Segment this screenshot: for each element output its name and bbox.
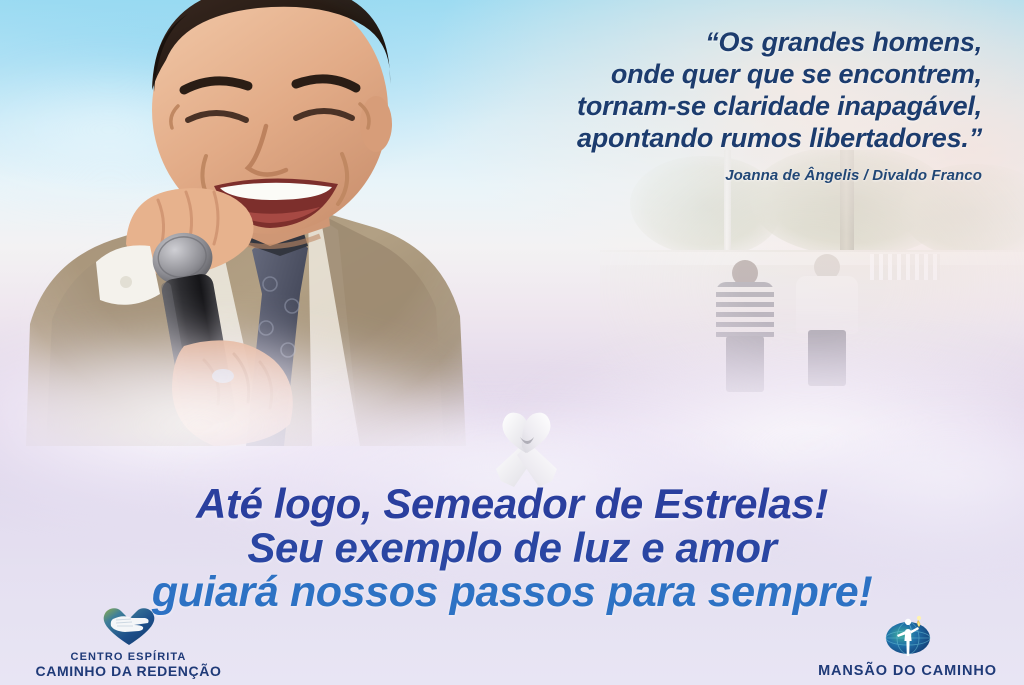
quote-line: tornam-se claridade inapagável, xyxy=(422,90,982,122)
portrait-smiling-man-with-microphone xyxy=(8,0,478,446)
person-torso xyxy=(796,276,858,334)
person-figure xyxy=(796,254,858,392)
background-photo-two-people-walking xyxy=(600,150,1024,440)
person-legs xyxy=(808,330,846,386)
heart-with-hand-icon xyxy=(101,605,157,652)
cloud-decoration xyxy=(0,70,260,190)
logo-caption: CENTRO ESPÍRITA CAMINHO DA REDENÇÃO xyxy=(36,652,222,679)
cloud-decoration xyxy=(60,250,420,400)
memorial-poster: “Os grandes homens, onde quer que se enc… xyxy=(0,0,1024,685)
globe-with-figure-holding-flame-icon xyxy=(881,614,935,663)
quote-line: “Os grandes homens, xyxy=(422,26,982,58)
quote-block: “Os grandes homens, onde quer que se enc… xyxy=(422,26,982,184)
person-torso xyxy=(716,282,774,340)
logo-caption: MANSÃO DO CAMINHO xyxy=(818,663,997,679)
logo-caption-big: MANSÃO DO CAMINHO xyxy=(818,664,997,679)
logo-caption-big: CAMINHO DA REDENÇÃO xyxy=(36,664,222,679)
white-mourning-ribbon-icon xyxy=(487,407,565,489)
headline-line: Seu exemplo de luz e amor xyxy=(0,526,1024,570)
person-figure xyxy=(716,260,774,392)
quote-line: apontando rumos libertadores.” xyxy=(422,122,982,154)
logo-caption-small: CENTRO ESPÍRITA xyxy=(36,652,222,664)
quote-attribution: Joanna de Ângelis / Divaldo Franco xyxy=(422,167,982,184)
person-head xyxy=(814,254,840,280)
person-legs xyxy=(726,336,764,392)
person-head xyxy=(732,260,758,286)
logo-mansao-do-caminho: MANSÃO DO CAMINHO xyxy=(805,614,1010,679)
logo-centro-espirita-caminho-da-redencao: CENTRO ESPÍRITA CAMINHO DA REDENÇÃO xyxy=(26,605,231,679)
quote-line: onde quer que se encontrem, xyxy=(422,58,982,90)
headline-block: Até logo, Semeador de Estrelas! Seu exem… xyxy=(0,482,1024,614)
wall-shape xyxy=(600,250,1024,278)
fence-shape xyxy=(870,254,940,280)
ground-shape xyxy=(600,265,1024,440)
headline-line: Até logo, Semeador de Estrelas! xyxy=(0,482,1024,526)
